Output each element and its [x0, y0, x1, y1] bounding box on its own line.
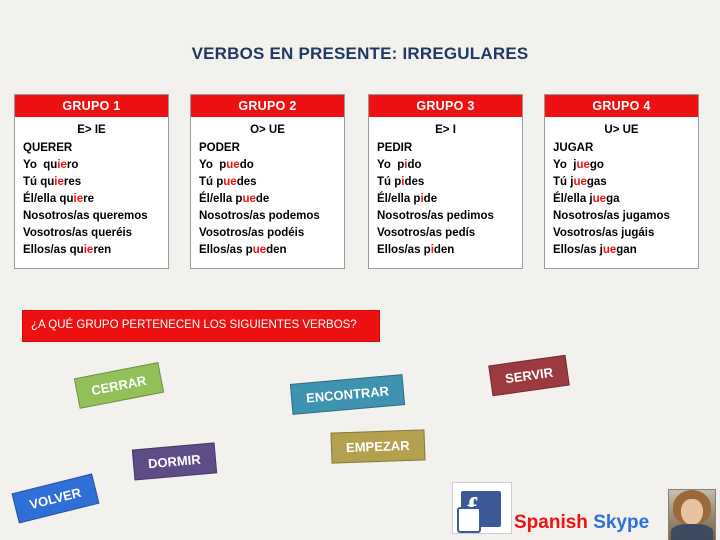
group-body-2: O> UE PODER Yo puedo Tú puedes Él/ella p… — [191, 117, 344, 268]
conj-pre: Tú p — [199, 176, 223, 188]
group-infinitive-4: JUGAR — [545, 141, 698, 158]
conj-pre: Tú p — [377, 176, 401, 188]
avatar — [668, 489, 716, 540]
conj-pre: Él/ella p — [377, 193, 420, 205]
conjugation-line: Vosotros/as podéis — [191, 226, 344, 243]
conj-pre: Ellos/as qu — [23, 244, 84, 256]
conj-highlight: ue — [603, 244, 616, 256]
conj-post: de — [256, 193, 269, 205]
conjugation-line: Vosotros/as queréis — [15, 226, 168, 243]
conjugation-line: Nosotros/as jugamos — [545, 209, 698, 226]
conj-post: go — [590, 159, 604, 171]
group-subtitle-4: U> UE — [545, 122, 698, 141]
conj-post: res — [64, 176, 81, 188]
conj-pre: Ellos/as p — [377, 244, 431, 256]
conj-post: des — [237, 176, 257, 188]
conjugation-line: Yo pido — [369, 158, 522, 175]
conj-highlight: ue — [573, 176, 586, 188]
conj-pre: Ellos/as p — [199, 244, 253, 256]
conj-highlight: ue — [576, 159, 589, 171]
conjugation-line: Yo quiero — [15, 158, 168, 175]
conj-post: ren — [93, 244, 111, 256]
slide-canvas: VERBOS EN PRESENTE: IRREGULARES GRUPO 1 … — [0, 0, 720, 540]
conj-highlight: ue — [226, 159, 239, 171]
conj-highlight: ie — [57, 159, 67, 171]
group-card-3: GRUPO 3 E> I PEDIR Yo pido Tú pides Él/e… — [368, 94, 523, 269]
conj-post: gas — [587, 176, 607, 188]
group-body-4: U> UE JUGAR Yo juego Tú juegas Él/ella j… — [545, 117, 698, 268]
group-subtitle-2: O> UE — [191, 122, 344, 141]
brand-word-spanish: Spanish — [514, 512, 588, 533]
conj-post: ga — [606, 193, 619, 205]
conj-pre: Yo p — [377, 159, 404, 171]
conj-highlight: ie — [54, 176, 64, 188]
verb-tag-servir[interactable]: SERVIR — [488, 355, 570, 397]
verb-tag-encontrar[interactable]: ENCONTRAR — [290, 374, 405, 415]
group-header-2: GRUPO 2 — [191, 95, 344, 117]
conj-pre: Yo j — [553, 159, 576, 171]
conjugation-line: Tú quieres — [15, 175, 168, 192]
conj-pre: Nosotros/as pedimos — [377, 210, 494, 222]
conjugation-line: Él/ella puede — [191, 192, 344, 209]
conjugation-line: Yo puedo — [191, 158, 344, 175]
conjugation-line: Él/ella pide — [369, 192, 522, 209]
conj-post: des — [404, 176, 424, 188]
brand-word-skype: Skype — [593, 512, 649, 533]
conjugation-line: Ellos/as pueden — [191, 243, 344, 260]
group-subtitle-3: E> I — [369, 122, 522, 141]
group-header-4: GRUPO 4 — [545, 95, 698, 117]
conj-post: do — [240, 159, 254, 171]
group-card-1: GRUPO 1 E> IE QUERER Yo quiero Tú quiere… — [14, 94, 169, 269]
conj-highlight: ue — [223, 176, 236, 188]
conjugation-line: Vosotros/as jugáis — [545, 226, 698, 243]
conjugation-line: Ellos/as piden — [369, 243, 522, 260]
group-infinitive-3: PEDIR — [369, 141, 522, 158]
brand-logo: f Spanish Skype — [452, 482, 662, 538]
conjugation-line: Tú puedes — [191, 175, 344, 192]
conj-pre: Vosotros/as queréis — [23, 227, 132, 239]
conj-pre: Tú qu — [23, 176, 54, 188]
verb-tag-volver[interactable]: VOLVER — [11, 473, 99, 523]
conjugation-line: Vosotros/as pedís — [369, 226, 522, 243]
verb-tag-dormir[interactable]: DORMIR — [132, 442, 217, 480]
conjugation-line: Él/ella juega — [545, 192, 698, 209]
conj-post: den — [434, 244, 454, 256]
page-title: VERBOS EN PRESENTE: IRREGULARES — [0, 44, 720, 64]
conj-pre: Nosotros/as jugamos — [553, 210, 670, 222]
avatar-body — [671, 524, 713, 540]
group-card-4: GRUPO 4 U> UE JUGAR Yo juego Tú juegas É… — [544, 94, 699, 269]
conj-pre: Yo p — [199, 159, 226, 171]
conj-pre: Él/ella p — [199, 193, 242, 205]
conj-pre: Él/ella qu — [23, 193, 74, 205]
conjugation-line: Nosotros/as podemos — [191, 209, 344, 226]
group-subtitle-1: E> IE — [15, 122, 168, 141]
conjugation-line: Ellos/as quieren — [15, 243, 168, 260]
avatar-face — [681, 499, 703, 525]
conj-post: ro — [67, 159, 79, 171]
verb-tag-empezar[interactable]: EMPEZAR — [330, 429, 425, 463]
conj-pre: Tú j — [553, 176, 573, 188]
group-card-2: GRUPO 2 O> UE PODER Yo puedo Tú puedes É… — [190, 94, 345, 269]
conj-pre: Yo qu — [23, 159, 57, 171]
group-body-1: E> IE QUERER Yo quiero Tú quieres Él/ell… — [15, 117, 168, 268]
thumbs-up-icon — [457, 507, 481, 533]
conjugation-line: Él/ella quiere — [15, 192, 168, 209]
conj-post: den — [266, 244, 286, 256]
verb-tag-cerrar[interactable]: CERRAR — [74, 362, 164, 409]
conj-pre: Vosotros/as pedís — [377, 227, 475, 239]
group-body-3: E> I PEDIR Yo pido Tú pides Él/ella pide… — [369, 117, 522, 268]
conjugation-line: Nosotros/as queremos — [15, 209, 168, 226]
conjugation-line: Tú juegas — [545, 175, 698, 192]
conj-highlight: ue — [253, 244, 266, 256]
conjugation-line: Ellos/as juegan — [545, 243, 698, 260]
conjugation-line: Tú pides — [369, 175, 522, 192]
conj-post: re — [83, 193, 94, 205]
conj-highlight: ie — [84, 244, 94, 256]
conjugation-line: Yo juego — [545, 158, 698, 175]
group-infinitive-2: PODER — [191, 141, 344, 158]
conj-pre: Él/ella j — [553, 193, 593, 205]
conjugation-line: Nosotros/as pedimos — [369, 209, 522, 226]
group-header-3: GRUPO 3 — [369, 95, 522, 117]
group-header-1: GRUPO 1 — [15, 95, 168, 117]
question-box: ¿A QUÉ GRUPO PERTENECEN LOS SIGUIENTES V… — [22, 310, 380, 342]
conj-pre: Vosotros/as jugáis — [553, 227, 654, 239]
conj-highlight: ue — [242, 193, 255, 205]
conj-highlight: ue — [593, 193, 606, 205]
conj-pre: Nosotros/as queremos — [23, 210, 148, 222]
facebook-icon[interactable]: f — [452, 482, 512, 534]
group-infinitive-1: QUERER — [15, 141, 168, 158]
conj-post: gan — [616, 244, 636, 256]
conj-pre: Vosotros/as podéis — [199, 227, 304, 239]
conj-post: do — [407, 159, 421, 171]
conj-highlight: ie — [74, 193, 84, 205]
conj-pre: Ellos/as j — [553, 244, 603, 256]
conj-pre: Nosotros/as podemos — [199, 210, 320, 222]
brand-text: Spanish Skype — [514, 512, 649, 534]
conj-post: de — [424, 193, 437, 205]
